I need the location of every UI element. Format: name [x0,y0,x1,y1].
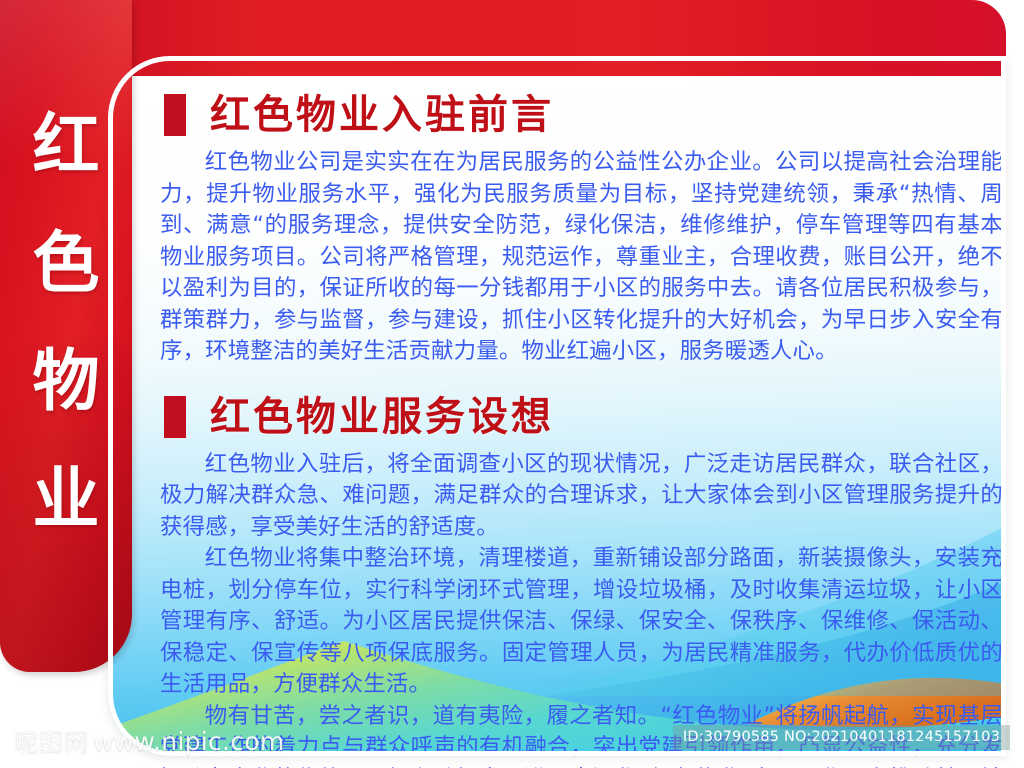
section-service-plan-heading: 红色物业服务设想 [164,394,1008,440]
vertical-poster-title: 红 色 物 业 [20,86,112,558]
section-service-plan: 红色物业服务设想 红色物业入驻后，将全面调查小区的现状情况，广泛走访居民群众，联… [160,394,1008,768]
section-service-plan-paragraph-2: 红色物业将集中整治环境，清理楼道，重新铺设部分路面，新装摄像头，安装充电桩，划分… [160,543,1003,701]
section-preface: 红色物业入驻前言 红色物业公司是实实在在为居民服务的公益性公办企业。公司以提高社… [160,92,1008,368]
section-service-plan-paragraph-3: 物有甘苦，尝之者识，道有夷险，履之者知。“红色物业”将扬帆起航，实现基层党建工作… [160,701,1003,768]
poster-content: 红色物业入驻前言 红色物业公司是实实在在为居民服务的公益性公办企业。公司以提高社… [160,92,1008,768]
site-watermark-name: 昵图网 [14,728,89,756]
poster-canvas: 红色物业入驻前言 红色物业公司是实实在在为居民服务的公益性公办企业。公司以提高社… [0,0,1024,768]
section-preface-paragraph-1: 红色物业公司是实实在在为居民服务的公益性公办企业。公司以提高社会治理能力，提升物… [160,147,1003,368]
section-service-plan-heading-text: 红色物业服务设想 [210,394,554,440]
vertical-title-char-4: 业 [20,440,112,558]
section-preface-heading-text: 红色物业入驻前言 [210,92,554,138]
square-bullet-icon [164,396,186,438]
square-bullet-icon [164,94,186,136]
vertical-title-char-1: 红 [20,86,112,204]
vertical-title-char-3: 物 [20,322,112,440]
section-preface-heading: 红色物业入驻前言 [164,92,1008,138]
top-red-band [0,0,1006,76]
section-service-plan-paragraph-1: 红色物业入驻后，将全面调查小区的现状情况，广泛走访居民群众，联合社区，极力解决群… [160,449,1003,544]
vertical-title-char-2: 色 [20,204,112,322]
